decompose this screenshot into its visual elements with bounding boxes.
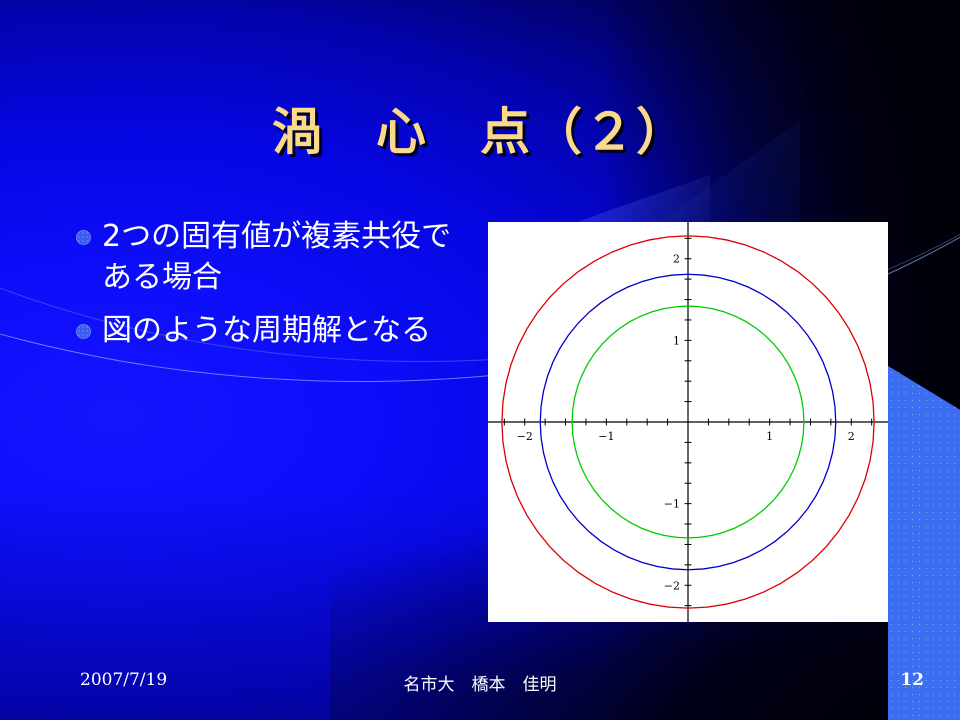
slide: 渦 心 点（２） 2つの固有値が複素共役である場合 図のような周期解となる −2… xyxy=(0,0,960,720)
phase-portrait-chart: −2−112−2−112 xyxy=(488,222,888,622)
y-tick-label: 2 xyxy=(673,253,680,266)
slide-title: 渦 心 点（２） xyxy=(0,92,960,164)
right-accent-panel xyxy=(888,355,960,720)
list-item: 図のような周期解となる xyxy=(76,310,466,351)
footer-author: 名市大 橋本 佳明 xyxy=(0,670,960,695)
x-tick-label: 2 xyxy=(848,430,855,443)
y-tick-label: −2 xyxy=(664,579,680,592)
bullet-marker-texture xyxy=(77,325,90,338)
x-tick-label: 1 xyxy=(766,430,773,443)
y-tick-label: −1 xyxy=(664,498,680,511)
list-item: 2つの固有値が複素共役である場合 xyxy=(76,216,466,298)
bullet-text: 2つの固有値が複素共役である場合 xyxy=(102,216,466,298)
chart-canvas: −2−112−2−112 xyxy=(488,222,888,622)
y-tick-label: 1 xyxy=(673,334,680,347)
x-tick-label: −2 xyxy=(517,430,533,443)
bullet-marker-icon xyxy=(76,324,91,339)
right-accent-panel-texture xyxy=(888,355,960,720)
footer-page-number: 12 xyxy=(900,670,924,690)
bullet-marker-texture xyxy=(77,231,90,244)
bullet-text: 図のような周期解となる xyxy=(102,310,431,351)
bullet-list: 2つの固有値が複素共役である場合 図のような周期解となる xyxy=(76,216,466,363)
x-tick-label: −1 xyxy=(598,430,614,443)
bullet-marker-icon xyxy=(76,230,91,245)
